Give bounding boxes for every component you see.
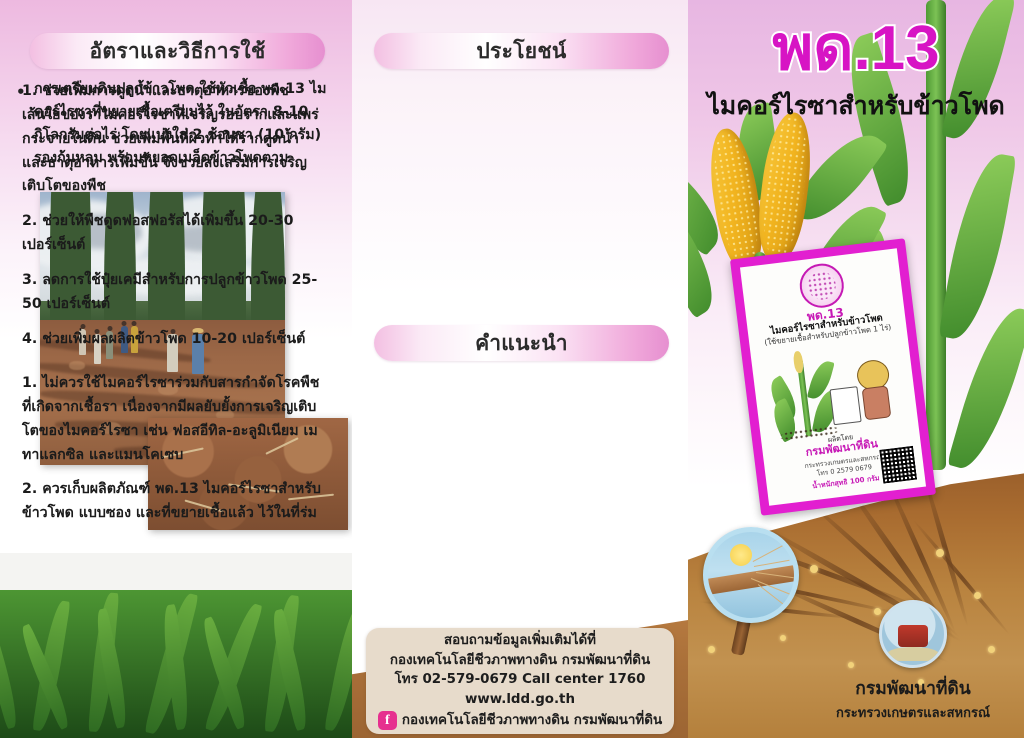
middle-column: สอบถามข้อมูลเพิ่มเติมได้ที่ กองเทคโนโลยี… [352, 0, 688, 738]
benefit-item: 1. ช่วยเพิ่มการดูดน้ำและธาตุอาหารของพืช … [22, 80, 322, 199]
advice-list: 1. ไม่ควรใช้ไมคอร์ไรซาร่วมกับสารกำจัดโรค… [22, 372, 322, 537]
benefits-heading-text: ประโยชน์ [476, 35, 566, 68]
magnifier-lens [703, 527, 799, 623]
facebook-page-name: กองเทคโนโลยีชีวภาพทางดิน กรมพัฒนาที่ดิน [402, 711, 662, 730]
contact-footer: สอบถามข้อมูลเพิ่มเติมได้ที่ กองเทคโนโลยี… [366, 628, 674, 734]
benefit-item: 4. ช่วยเพิ่มผลผลิตข้าวโพด 10-20 เปอร์เซ็… [22, 328, 322, 352]
contact-line-1: สอบถามข้อมูลเพิ่มเติมได้ที่ [444, 631, 596, 650]
department-name: กรมพัฒนาที่ดิน [818, 674, 1008, 702]
facebook-icon[interactable]: f [378, 711, 397, 730]
mascot-bag [829, 386, 861, 425]
department-block: กรมพัฒนาที่ดิน กระทรวงเกษตรและสหกรณ์ [818, 600, 1008, 723]
department-emblem-icon [879, 600, 947, 668]
advice-item: 2. ควรเก็บผลิตภัณฑ์ พด.13 ไมคอร์ไรซาสำหร… [22, 478, 322, 526]
advice-heading-text: คำแนะนำ [475, 327, 568, 360]
benefits-list: 1. ช่วยเพิ่มการดูดน้ำและธาตุอาหารของพืช … [22, 80, 322, 363]
mascot-body [862, 385, 892, 420]
contact-line-2: กองเทคโนโลยีชีวภาพทางดิน กรมพัฒนาที่ดิน [390, 651, 650, 670]
left-heading-text: อัตราและวิธีการใช้ [89, 35, 265, 68]
left-section-heading: อัตราและวิธีการใช้ [30, 33, 325, 69]
page-title: พด.13 [698, 18, 1014, 80]
facebook-row[interactable]: f กองเทคโนโลยีชีวภาพทางดิน กรมพัฒนาที่ดิ… [378, 711, 662, 730]
contact-website[interactable]: www.ldd.go.th [465, 690, 575, 709]
contact-phone: โทร 02-579-0679 Call center 1760 [395, 670, 646, 689]
benefit-item: 3. ลดการใช้ปุ๋ยเคมีสำหรับการปลูกข้าวโพด … [22, 269, 322, 317]
product-package: พด.13 ไมคอร์ไรซาสำหรับข้าวโพด (ใช้ขยายเช… [730, 238, 936, 516]
department-ministry: กระทรวงเกษตรและสหกรณ์ [818, 702, 1008, 723]
corn-field-photo [0, 553, 352, 738]
advice-item: 1. ไม่ควรใช้ไมคอร์ไรซาร่วมกับสารกำจัดโรค… [22, 372, 322, 467]
page-subtitle: ไมคอร์ไรซาสำหรับข้าวโพด [694, 92, 1018, 120]
corn-leaf [938, 149, 1016, 344]
advice-section-heading: คำแนะนำ [374, 325, 669, 361]
package-label: พด.13 ไมคอร์ไรซาสำหรับข้าวโพด (ใช้ขยายเช… [740, 248, 926, 505]
sun-glow [730, 544, 752, 566]
brochure-page: อัตราและวิธีการใช้ • การเตรียมดินปลูกข้า… [0, 0, 1024, 738]
magnifier-illustration [703, 527, 799, 623]
benefit-item: 2. ช่วยให้พืชดูดฟอสฟอรัสได้เพิ่มขึ้น 20-… [22, 210, 322, 258]
qr-code-icon[interactable] [878, 445, 918, 485]
benefits-section-heading: ประโยชน์ [374, 33, 669, 69]
package-mascot-illustration [848, 353, 903, 434]
